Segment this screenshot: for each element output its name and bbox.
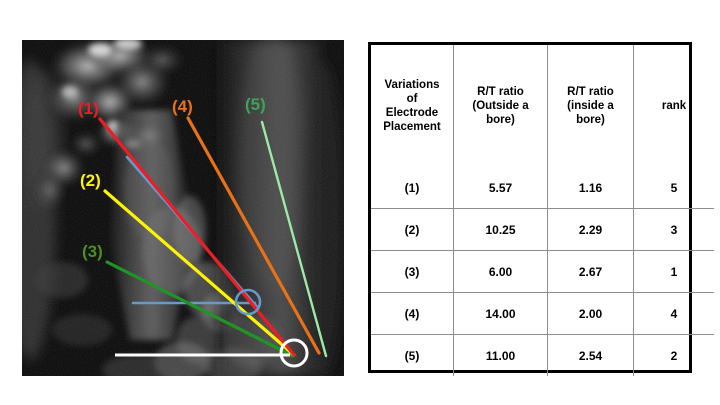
cell-rank: 4 xyxy=(634,293,715,335)
trajectory-lines xyxy=(100,118,326,356)
table-row: (5) 11.00 2.54 2 xyxy=(371,335,714,377)
trajectory-label-5: (5) xyxy=(245,96,266,113)
cell-variation: (1) xyxy=(371,167,454,209)
header-line: of xyxy=(407,93,418,105)
header-line: bore) xyxy=(576,114,605,126)
trajectory-line-5 xyxy=(262,122,326,356)
header-line: rank xyxy=(662,100,686,112)
table-row: (3) 6.00 2.67 1 xyxy=(371,251,714,293)
trajectory-label-4: (4) xyxy=(172,98,193,115)
trajectory-label-3: (3) xyxy=(82,243,103,260)
header-line: bore) xyxy=(486,114,515,126)
header-line: R/T ratio xyxy=(477,86,524,98)
cell-rank: 1 xyxy=(634,251,715,293)
mri-image-panel: (1) (2) (3) (4) (5) xyxy=(22,40,344,376)
figure-root: (1) (2) (3) (4) (5) Variations of Electr… xyxy=(0,0,720,405)
cell-variation: (4) xyxy=(371,293,454,335)
cell-variation: (3) xyxy=(371,251,454,293)
cell-ratio-outside: 5.57 xyxy=(454,167,548,209)
header-line: R/T ratio xyxy=(567,86,614,98)
cell-rank: 2 xyxy=(634,335,715,377)
cell-ratio-outside: 11.00 xyxy=(454,335,548,377)
cell-rank: 5 xyxy=(634,167,715,209)
cell-ratio-outside: 6.00 xyxy=(454,251,548,293)
trajectory-label-1: (1) xyxy=(78,100,99,117)
table-header-row: Variations of Electrode Placement R/T ra… xyxy=(371,45,714,167)
table-row: (4) 14.00 2.00 4 xyxy=(371,293,714,335)
header-line: (Outside a xyxy=(472,100,528,112)
header-line: Electrode xyxy=(386,107,438,119)
trajectory-line-3 xyxy=(107,262,293,356)
cell-ratio-outside: 10.25 xyxy=(454,209,548,251)
column-header-ratio-inside: R/T ratio (inside a bore) xyxy=(548,45,634,167)
cell-variation: (2) xyxy=(371,209,454,251)
header-line: Placement xyxy=(383,121,441,133)
table-row: (1) 5.57 1.16 5 xyxy=(371,167,714,209)
trajectory-label-2: (2) xyxy=(80,172,101,189)
column-header-ratio-outside: R/T ratio (Outside a bore) xyxy=(454,45,548,167)
rt-ratio-table: Variations of Electrode Placement R/T ra… xyxy=(371,45,714,376)
trajectory-line-1 xyxy=(100,119,294,355)
results-table-panel: Variations of Electrode Placement R/T ra… xyxy=(368,42,692,373)
cell-ratio-outside: 14.00 xyxy=(454,293,548,335)
header-line: Variations xyxy=(385,79,440,91)
column-header-rank: rank xyxy=(634,45,715,167)
trajectory-overlay xyxy=(22,40,344,376)
trajectory-line-2 xyxy=(105,191,294,355)
cell-ratio-inside: 1.16 xyxy=(548,167,634,209)
column-header-variations: Variations of Electrode Placement xyxy=(371,45,454,167)
cell-ratio-inside: 2.29 xyxy=(548,209,634,251)
cell-variation: (5) xyxy=(371,335,454,377)
cell-ratio-inside: 2.67 xyxy=(548,251,634,293)
cell-rank: 3 xyxy=(634,209,715,251)
header-line: (inside a xyxy=(567,100,614,112)
cell-ratio-inside: 2.54 xyxy=(548,335,634,377)
table-row: (2) 10.25 2.29 3 xyxy=(371,209,714,251)
cell-ratio-inside: 2.00 xyxy=(548,293,634,335)
